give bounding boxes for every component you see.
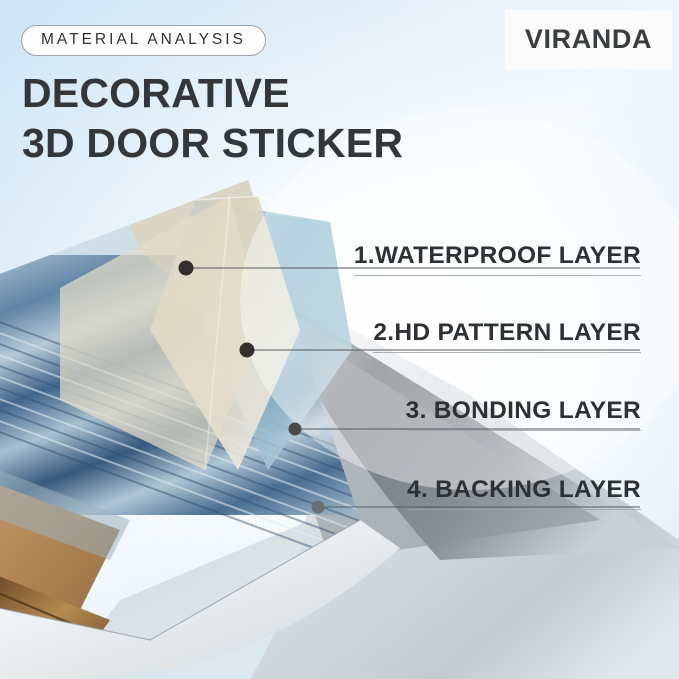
material-analysis-badge: MATERIAL ANALYSIS: [21, 25, 266, 56]
callout-dot-1: [179, 261, 194, 276]
callout-rule-2: [373, 352, 641, 353]
callout-label-2-text: 2.HD PATTERN LAYER: [373, 320, 641, 346]
callout-label-2: 2.HD PATTERN LAYER: [373, 320, 641, 353]
callout-dot-4: [312, 501, 325, 514]
callout-dot-2: [240, 343, 255, 358]
poster-canvas: MATERIAL ANALYSIS DECORATIVE 3D DOOR STI…: [0, 0, 679, 679]
callout-label-4-text: 4. BACKING LAYER: [407, 477, 641, 503]
callout-label-1: 1.WATERPROOF LAYER: [354, 243, 641, 276]
brand-name: VIRANDA: [525, 26, 652, 53]
callout-rule-4: [407, 509, 641, 510]
callout-label-3-text: 3. BONDING LAYER: [406, 398, 641, 424]
callout-label-4: 4. BACKING LAYER: [407, 477, 641, 510]
callout-rule-1: [354, 275, 641, 276]
callout-dot-3: [289, 423, 302, 436]
brand-logo-box: VIRANDA: [505, 10, 672, 69]
callout-label-1-text: 1.WATERPROOF LAYER: [354, 243, 641, 269]
page-title: DECORATIVE 3D DOOR STICKER: [22, 68, 403, 168]
callout-rule-3: [406, 430, 641, 431]
callout-label-3: 3. BONDING LAYER: [406, 398, 641, 431]
